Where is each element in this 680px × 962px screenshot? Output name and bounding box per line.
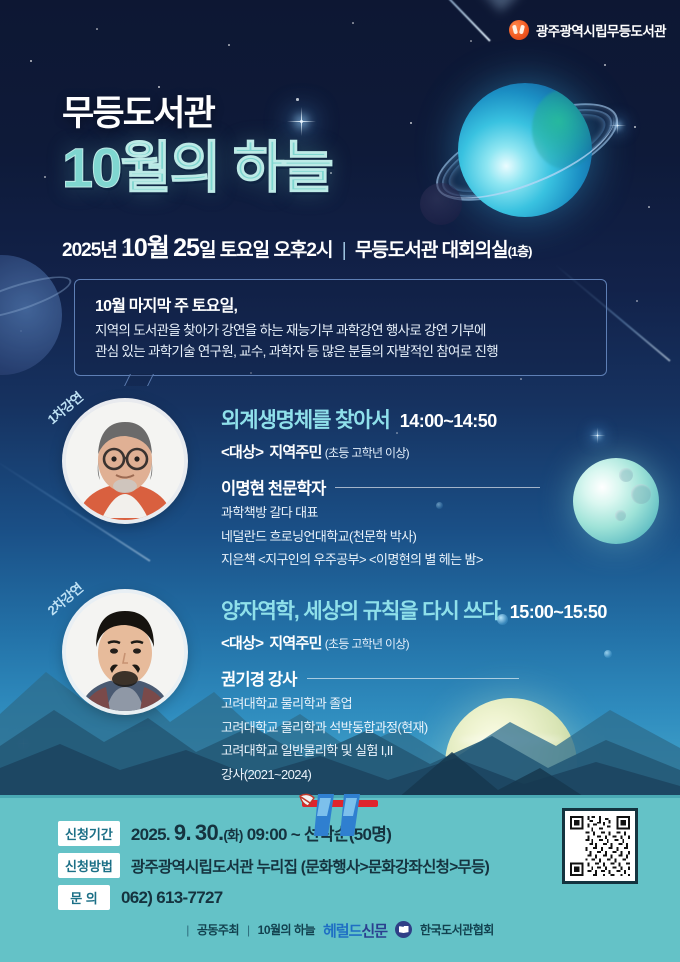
event-time: 오후2시 (273, 240, 332, 261)
registration-inquiry-row: 문 의 062) 613-7727 (58, 885, 489, 910)
cohost-herald: 헤럴드신문 (323, 920, 387, 941)
cohost-herald-news: 신문 (361, 923, 387, 940)
lecture-2-target-note: (초등 고학년 이상) (325, 637, 409, 651)
page-title: 무등도서관 (62, 96, 332, 131)
lecture-2-rule (307, 678, 519, 679)
cohost-row: | 공동주최 | 10월의 하늘 헤럴드신문 한국도서관협회 (0, 919, 680, 940)
description-box-tail (124, 374, 154, 386)
reg-month: 9. (174, 820, 191, 845)
comet-streak-wide (323, 0, 519, 12)
mint-moon-graphic (573, 458, 659, 544)
registration-inquiry-label: 문 의 (58, 885, 110, 910)
lecture-2-credential-2: 고려대학교 물리학과 석박동합과정(현재) (221, 718, 607, 738)
cohost-herald-main: 헤럴드 (323, 923, 361, 940)
cohost-kla-label: 한국도서관협회 (420, 921, 494, 938)
registration-method-row: 신청방법 광주광역시립도서관 누리집 (문화행사>문화강좌신청>무등) (58, 853, 489, 878)
dim-planet-graphic (420, 183, 462, 225)
lecture-1-target-label: <대상> (221, 444, 263, 461)
lecture-1-credential-3: 지은책 <지구인의 우주공부> <이명현의 별 헤는 밤> (221, 550, 540, 570)
lecture-2-target-value: 지역주민 (269, 635, 321, 652)
reg-day: 30. (195, 820, 223, 845)
lecture-2-credential-3: 고려대학교 일반물리학 및 실험 I,II (221, 741, 607, 761)
description-line-2: 관심 있는 과학기술 연구원, 교수, 과학자 등 많은 분들의 자발적인 참여… (95, 342, 590, 363)
event-month: 10월 (121, 234, 169, 262)
cohost-pipe-mid: | (247, 923, 250, 937)
event-datetime-line: 2025년 10월 25일 토요일 오후2시 | 무등도서관 대회의실(1층) (62, 228, 531, 264)
description-line-1: 지역의 도서관을 찾아가 강연을 하는 재능기부 과학강연 행사로 강연 기부에 (95, 321, 590, 342)
lecture-2-target: <대상>지역주민(초등 고학년 이상) (221, 632, 607, 653)
lecture-1-speaker-row: 이명현 천문학자 (221, 475, 540, 499)
reg-weekday: (화) (223, 828, 242, 843)
herald-logo-icon (288, 792, 408, 856)
cohost-pipe-left: | (186, 923, 189, 937)
lecture-2-speaker-name: 권기경 강사 (221, 666, 297, 690)
lecture-1-target-value: 지역주민 (269, 444, 321, 461)
registration-method-label: 신청방법 (58, 853, 120, 878)
lecture-2-target-label: <대상> (221, 635, 263, 652)
datetime-separator: | (342, 240, 346, 261)
registration-info: 신청기간 2025. 9. 30.(화) 09:00 ~ 선착순(50명) 신청… (58, 820, 489, 917)
lecture-2-credential-4: 강사(2021~2024) (221, 765, 607, 785)
registration-footer: 신청기간 2025. 9. 30.(화) 09:00 ~ 선착순(50명) 신청… (0, 795, 680, 962)
poster-root: 광주광역시립무등도서관 무등도서관 10월의 하늘 2025년 10월 25일 … (0, 0, 680, 962)
event-venue-floor: (1층) (508, 244, 532, 259)
lecture-1-credential-2: 네덜란드 흐로닝언대학교(천문학 박사) (221, 527, 540, 547)
lecture-1-rule (335, 487, 540, 488)
event-day-unit: 일 (199, 240, 215, 261)
korean-library-association-icon (395, 921, 412, 938)
cohost-october-sky: 10월의 하늘 (258, 921, 315, 938)
edge-planet-graphic (0, 255, 62, 375)
library-emblem-icon (509, 20, 529, 40)
lecture-2-speaker-row: 권기경 강사 (221, 666, 607, 690)
event-year: 2025년 (62, 240, 117, 261)
reg-year: 2025. (131, 825, 170, 844)
lecture-1-credential-1: 과학책방 갈다 대표 (221, 503, 540, 523)
lecture-2-title: 양자역학, 세상의 규칙을 다시 쓰다 (221, 595, 500, 625)
registration-inquiry-value: 062) 613-7727 (121, 888, 223, 908)
lecture-1-title: 외계생명체를 찾아서 (221, 404, 390, 434)
registration-method-value: 광주광역시립도서관 누리집 (문화행사>문화강좌신청>무등) (131, 855, 489, 877)
library-logo: 광주광역시립무등도서관 (509, 20, 666, 40)
event-description-box: 10월 마지막 주 토요일, 지역의 도서관을 찾아가 강연을 하는 재능기부 … (74, 279, 607, 376)
description-headline: 10월 마지막 주 토요일, (95, 292, 590, 316)
ringed-planet-graphic (430, 55, 620, 245)
lecture-1-time: 14:00~14:50 (400, 411, 497, 432)
lecture-1-target: <대상>지역주민(초등 고학년 이상) (221, 441, 540, 462)
lecture-2-credential-1: 고려대학교 물리학과 졸업 (221, 694, 607, 714)
registration-period-label: 신청기간 (58, 821, 120, 846)
organization-name: 광주광역시립무등도서관 (536, 20, 666, 40)
lecture-1-speaker-photo (66, 402, 184, 520)
lecture-1-speaker-name: 이명현 천문학자 (221, 475, 325, 499)
lecture-1-target-note: (초등 고학년 이상) (325, 446, 409, 460)
star-sparkle-lecture (597, 435, 599, 437)
event-day: 25 (173, 234, 199, 262)
event-venue: 무등도서관 대회의실 (355, 240, 508, 261)
lecture-2-speaker-photo (66, 593, 184, 711)
lecture-2-time: 15:00~15:50 (510, 602, 607, 623)
page-subtitle: 10월의 하늘 (62, 139, 332, 198)
cohost-label: 공동주최 (197, 921, 239, 938)
event-weekday: 토요일 (220, 240, 269, 261)
comet-streak-1 (350, 0, 490, 42)
hero-title-block: 무등도서관 10월의 하늘 (62, 96, 332, 198)
registration-period-row: 신청기간 2025. 9. 30.(화) 09:00 ~ 선착순(50명) (58, 820, 489, 846)
qr-code-icon[interactable] (562, 808, 638, 884)
